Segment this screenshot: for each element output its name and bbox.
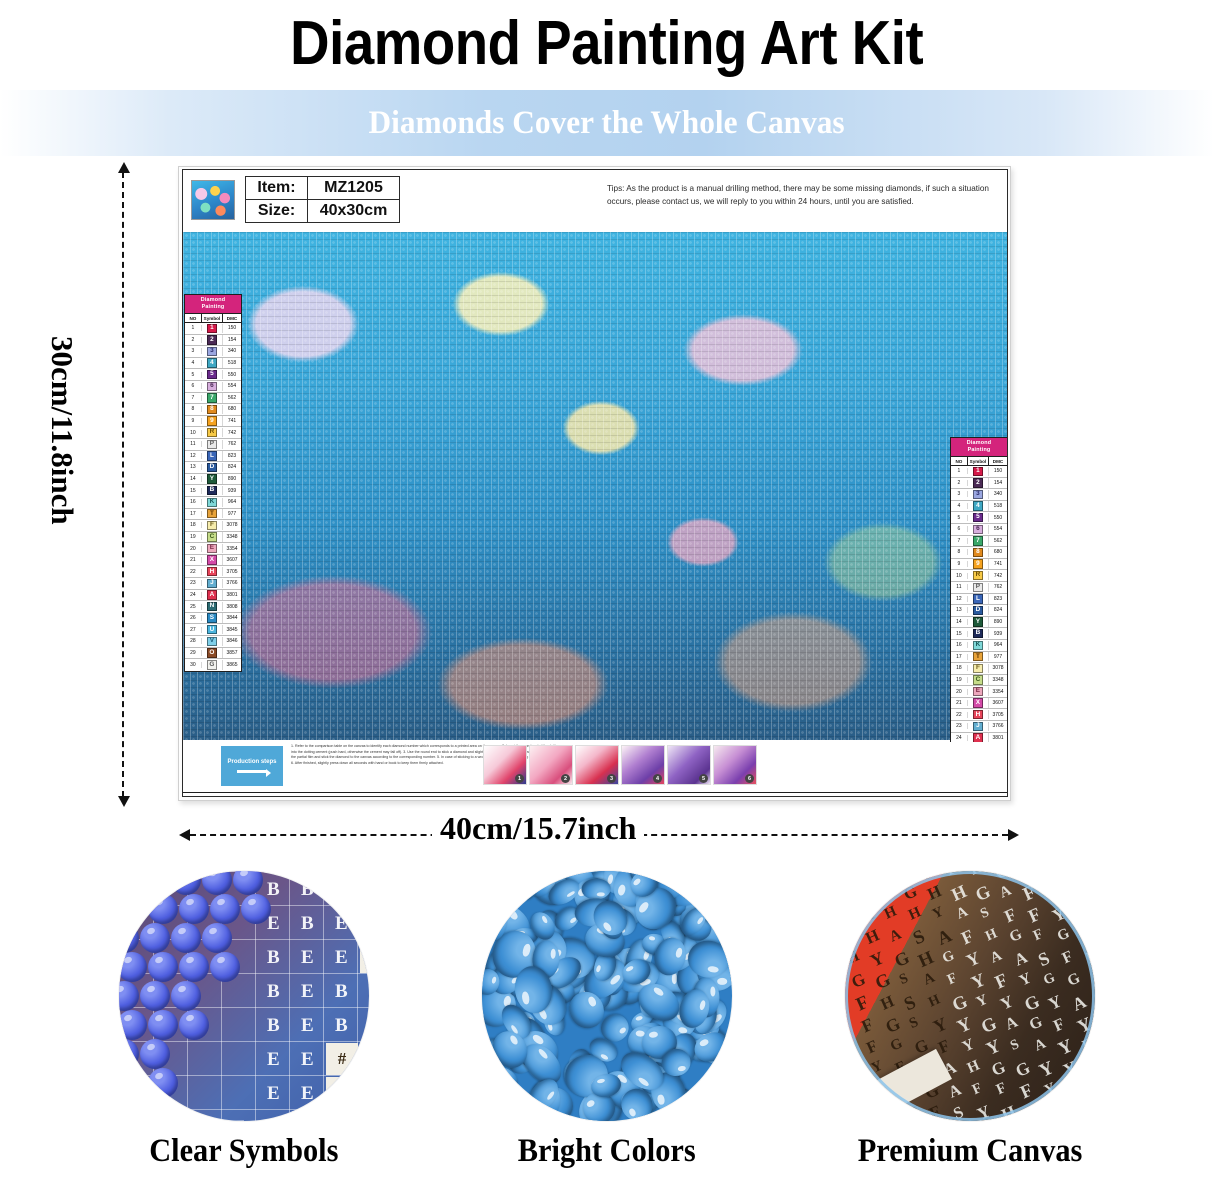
- legend-row-symbol: R: [968, 571, 989, 580]
- legend-row-symbol: B: [968, 629, 989, 638]
- feature-premium-canvas: AYFSHFHGGYSAGFHGHHGAFHFAAHHYASFFYSHHASAF…: [768, 871, 1172, 1193]
- legend-row-symbol: 3: [968, 490, 989, 499]
- legend-row: 17T977: [185, 509, 241, 521]
- legend-row-no: 1: [951, 468, 968, 474]
- legend-row-dmc: 742: [223, 430, 241, 436]
- legend-row-dmc: 150: [989, 468, 1007, 474]
- step-number: 1: [515, 774, 524, 783]
- step-thumbnail: 4: [621, 745, 665, 785]
- legend-row: 66554: [185, 381, 241, 393]
- symbol-swatch: D: [207, 463, 217, 472]
- legend-row-dmc: 550: [989, 515, 1007, 521]
- canvas-symbol: S: [1064, 871, 1079, 879]
- legend-row-symbol: 7: [202, 393, 223, 402]
- diamond-drill: [148, 894, 178, 924]
- mosaic-pattern: [183, 232, 1008, 742]
- legend-row: 14Y890: [185, 474, 241, 486]
- legend-row-no: 28: [185, 638, 202, 644]
- legend-row: 21X3607: [185, 555, 241, 567]
- symbol-swatch: A: [207, 590, 217, 599]
- legend-row: 77562: [951, 536, 1007, 548]
- step-number: 2: [561, 774, 570, 783]
- item-label: Item:: [246, 177, 308, 200]
- legend-title-line2: Painting: [951, 447, 1007, 454]
- symbol-swatch: J: [973, 722, 983, 731]
- legend-row: 18F3078: [185, 520, 241, 532]
- legend-row-symbol: D: [202, 463, 223, 472]
- symbol-cell: E: [335, 879, 348, 901]
- legend-row: 99741: [185, 416, 241, 428]
- legend-row-no: 9: [951, 561, 968, 567]
- symbol-swatch: J: [207, 579, 217, 588]
- legend-row: 10R742: [185, 427, 241, 439]
- legend-row-no: 23: [951, 723, 968, 729]
- legend-row-dmc: 3766: [223, 580, 241, 586]
- legend-col-no: NO: [185, 314, 202, 322]
- legend-row-symbol: 9: [968, 559, 989, 568]
- legend-row-no: 19: [951, 677, 968, 683]
- legend-row: 24A3801: [951, 733, 1007, 742]
- legend-row: 22154: [951, 478, 1007, 490]
- legend-row: 33340: [951, 489, 1007, 501]
- symbol-swatch: F: [973, 664, 983, 673]
- canvas-symbol: A: [1089, 1079, 1095, 1102]
- symbol-cell: E: [335, 1117, 348, 1121]
- legend-row: 17T977: [951, 652, 1007, 664]
- symbol-swatch: 5: [973, 513, 983, 522]
- legend-row-dmc: 824: [989, 607, 1007, 613]
- legend-table-left: Diamond Painting NO Symbol DMC 111502215…: [184, 294, 242, 672]
- legend-row: 66554: [951, 524, 1007, 536]
- legend-row-symbol: 5: [202, 370, 223, 379]
- legend-row-dmc: 3348: [989, 677, 1007, 683]
- legend-row-symbol: X: [968, 698, 989, 707]
- legend-row-dmc: 3348: [223, 534, 241, 540]
- symbol-swatch: 8: [973, 548, 983, 557]
- footer-divider: [183, 792, 1008, 793]
- symbol-swatch: 3: [973, 490, 983, 499]
- step-thumbnail: 1: [483, 745, 527, 785]
- feature-caption: Premium Canvas: [858, 1133, 1083, 1170]
- legend-row-symbol: 5: [968, 513, 989, 522]
- legend-row-no: 14: [185, 476, 202, 482]
- legend-row: 23J3766: [185, 578, 241, 590]
- legend-row-no: 12: [951, 596, 968, 602]
- legend-row: 44518: [185, 358, 241, 370]
- legend-row-dmc: 3801: [989, 735, 1007, 741]
- legend-row-dmc: 3607: [989, 700, 1007, 706]
- legend-col-symbol: Symbol: [202, 314, 223, 322]
- symbol-swatch: D: [973, 606, 983, 615]
- legend-row: 23J3766: [951, 721, 1007, 733]
- symbol-swatch: K: [207, 498, 217, 507]
- legend-row: 11150: [951, 466, 1007, 478]
- symbol-swatch: B: [207, 486, 217, 495]
- diamond-drill: [119, 1010, 147, 1040]
- symbol-swatch: Y: [973, 617, 983, 626]
- legend-row-symbol: 6: [202, 382, 223, 391]
- feature-bright-colors: Bright Colors: [405, 871, 809, 1193]
- symbol-cell: E: [335, 913, 348, 935]
- legend-row-dmc: 3857: [223, 650, 241, 656]
- diamond-drill: [148, 1068, 178, 1098]
- step-thumbnail-strip: 123456: [483, 745, 757, 785]
- symbol-swatch: 6: [973, 525, 983, 534]
- symbol-swatch: S: [207, 613, 217, 622]
- legend-row-no: 19: [185, 534, 202, 540]
- diamond-drill: [210, 894, 240, 924]
- legend-row-symbol: X: [202, 555, 223, 564]
- symbol-swatch: 4: [973, 501, 983, 510]
- legend-row-dmc: 977: [989, 654, 1007, 660]
- symbol-swatch: H: [207, 567, 217, 576]
- legend-row: 30G3865: [185, 659, 241, 671]
- legend-row: 22H3705: [185, 566, 241, 578]
- canvas-symbol: F: [853, 882, 869, 902]
- legend-row: 25N3808: [185, 601, 241, 613]
- legend-row: 88680: [185, 404, 241, 416]
- feature-row: BBEEEBE#BEE#BEBEBEBBEE##EE#EEBBEE#EE Cle…: [0, 871, 1214, 1193]
- legend-row-dmc: 741: [223, 418, 241, 424]
- height-dimension-arrow: [122, 172, 124, 797]
- legend-row-dmc: 3808: [223, 604, 241, 610]
- legend-row-dmc: 824: [223, 464, 241, 470]
- legend-col-dmc: DMC: [223, 314, 241, 322]
- legend-row-symbol: 4: [202, 358, 223, 367]
- diamond-drill: [140, 1039, 170, 1069]
- diamond-drill: [119, 1039, 139, 1069]
- symbol-swatch: R: [973, 571, 983, 580]
- symbol-swatch: P: [207, 440, 217, 449]
- symbol-swatch: 7: [973, 536, 983, 545]
- legend-row-no: 30: [185, 662, 202, 668]
- legend-row-dmc: 3078: [223, 522, 241, 528]
- canvas-symbol: A: [845, 904, 850, 923]
- applied-drills: [119, 871, 274, 1121]
- legend-row-dmc: 3705: [223, 569, 241, 575]
- legend-row-no: 23: [185, 580, 202, 586]
- legend-header: Diamond Painting: [951, 438, 1007, 456]
- symbol-swatch: 1: [207, 324, 217, 333]
- feature-clear-symbols: BBEEEBE#BEE#BEBEBEBBEE##EE#EEBBEE#EE Cle…: [42, 871, 446, 1193]
- symbol-swatch: Y: [207, 474, 217, 483]
- legend-row-symbol: U: [202, 625, 223, 634]
- legend-row-dmc: 562: [223, 395, 241, 401]
- diamond-drill: [171, 923, 201, 953]
- legend-row-no: 29: [185, 650, 202, 656]
- legend-row-no: 7: [185, 395, 202, 401]
- legend-row-dmc: 3766: [989, 723, 1007, 729]
- legend-row-no: 15: [951, 631, 968, 637]
- canvas-symbol: S: [1073, 904, 1092, 928]
- diamond-drill: [202, 871, 232, 895]
- legend-row: 11150: [185, 323, 241, 335]
- artwork-thumbnail: [191, 180, 235, 220]
- legend-row-no: 16: [951, 642, 968, 648]
- legend-row-symbol: J: [968, 722, 989, 731]
- legend-row-dmc: 3607: [223, 557, 241, 563]
- legend-row-symbol: 8: [968, 548, 989, 557]
- legend-row-no: 4: [185, 360, 202, 366]
- canvas-symbol: A: [1087, 871, 1095, 884]
- legend-row-dmc: 150: [223, 325, 241, 331]
- legend-row-dmc: 3801: [223, 592, 241, 598]
- legend-row-dmc: 890: [223, 476, 241, 482]
- legend-row-symbol: 4: [968, 501, 989, 510]
- item-value: MZ1205: [308, 177, 400, 200]
- legend-row-symbol: 3: [202, 347, 223, 356]
- canvas-symbol: A: [1070, 1101, 1091, 1121]
- legend-row-dmc: 890: [989, 619, 1007, 625]
- diamond-drill: [119, 981, 139, 1011]
- symbol-swatch: V: [207, 637, 217, 646]
- legend-row-no: 24: [185, 592, 202, 598]
- symbol-cell: B: [301, 913, 314, 935]
- legend-row: 10R742: [951, 570, 1007, 582]
- legend-row-dmc: 3354: [989, 689, 1007, 695]
- legend-row-no: 13: [185, 464, 202, 470]
- legend-row-symbol: F: [968, 664, 989, 673]
- symbol-swatch: O: [207, 648, 217, 657]
- legend-row-symbol: Y: [202, 474, 223, 483]
- legend-row-symbol: 2: [202, 335, 223, 344]
- canvas-sheet: Item: MZ1205 Size: 40x30cm Tips: As the …: [182, 169, 1008, 797]
- legend-row-no: 21: [185, 557, 202, 563]
- legend-row: 14Y890: [951, 617, 1007, 629]
- legend-row-symbol: L: [202, 451, 223, 460]
- step-number: 4: [653, 774, 662, 783]
- symbol-cell: B: [301, 879, 314, 901]
- legend-row-no: 27: [185, 627, 202, 633]
- symbol-swatch: F: [207, 521, 217, 530]
- symbol-cell: #: [326, 1043, 358, 1075]
- canvas-symbol: F: [1068, 882, 1086, 905]
- diamond-drill: [119, 1068, 147, 1098]
- diamond-drill: [210, 952, 240, 982]
- symbol-cell: B: [335, 1015, 348, 1037]
- symbol-swatch: N: [207, 602, 217, 611]
- legend-row: 19C3348: [185, 532, 241, 544]
- legend-row-dmc: 518: [223, 360, 241, 366]
- legend-row-no: 9: [185, 418, 202, 424]
- step-number: 5: [699, 774, 708, 783]
- legend-row-dmc: 762: [989, 584, 1007, 590]
- legend-row: 44518: [951, 501, 1007, 513]
- legend-row-no: 2: [185, 337, 202, 343]
- symbol-swatch: X: [207, 555, 217, 564]
- production-steps-label: Production steps: [227, 759, 276, 767]
- diamond-drill: [140, 923, 170, 953]
- diamond-drill: [140, 981, 170, 1011]
- symbol-cell: E: [301, 1049, 314, 1071]
- legend-row-no: 11: [951, 584, 968, 590]
- legend-row-no: 8: [951, 549, 968, 555]
- legend-row: 29O3857: [185, 648, 241, 660]
- height-dimension-label: 30cm/11.8inch: [44, 336, 80, 525]
- diamond-drill: [148, 1010, 178, 1040]
- legend-row-symbol: A: [202, 590, 223, 599]
- symbol-swatch: E: [207, 544, 217, 553]
- feature-caption: Bright Colors: [518, 1133, 696, 1170]
- symbol-swatch: C: [207, 532, 217, 541]
- symbol-cell: #: [360, 941, 369, 973]
- symbol-swatch: H: [973, 710, 983, 719]
- legend-row: 55550: [951, 512, 1007, 524]
- legend-row: 27U3845: [185, 624, 241, 636]
- legend-row-symbol: P: [968, 583, 989, 592]
- diamond-drill: [119, 952, 147, 982]
- diamond-drill: [179, 952, 209, 982]
- width-dimension-label: 40cm/15.7inch: [432, 810, 644, 847]
- legend-row-symbol: B: [202, 486, 223, 495]
- symbol-cell: E: [301, 1015, 314, 1037]
- sheet-footer: Production steps 1. Refer to the compari…: [183, 740, 1008, 796]
- legend-row-no: 18: [185, 522, 202, 528]
- legend-row: 20E3354: [185, 543, 241, 555]
- diamond-drill: [202, 923, 232, 953]
- symbol-cell: #: [292, 1111, 324, 1121]
- legend-row-symbol: T: [968, 652, 989, 661]
- legend-row-no: 20: [951, 689, 968, 695]
- legend-row: 77562: [185, 393, 241, 405]
- legend-row-no: 5: [951, 515, 968, 521]
- legend-row-symbol: V: [202, 637, 223, 646]
- legend-row-no: 14: [951, 619, 968, 625]
- legend-row: 24A3801: [185, 590, 241, 602]
- step-thumbnail: 6: [713, 745, 757, 785]
- legend-row-no: 3: [185, 348, 202, 354]
- legend-row-symbol: L: [968, 594, 989, 603]
- legend-row: 22154: [185, 335, 241, 347]
- legend-row-no: 16: [185, 499, 202, 505]
- legend-rows: 1115022154333404451855550665547756288680…: [185, 323, 241, 671]
- legend-row-symbol: 1: [968, 467, 989, 476]
- legend-row: 20E3354: [951, 686, 1007, 698]
- symbol-swatch: T: [207, 509, 217, 518]
- legend-row-no: 21: [951, 700, 968, 706]
- legend-row-dmc: 340: [989, 491, 1007, 497]
- legend-row-dmc: 939: [989, 631, 1007, 637]
- legend-row-symbol: 9: [202, 416, 223, 425]
- legend-row: 19C3348: [951, 675, 1007, 687]
- symbol-swatch: R: [207, 428, 217, 437]
- title-band: Diamond Painting Art Kit: [0, 0, 1214, 88]
- symbol-cell: B: [335, 981, 348, 1003]
- step-thumbnail: 5: [667, 745, 711, 785]
- diamond-drill: [140, 871, 170, 895]
- symbol-swatch: 2: [207, 335, 217, 344]
- legend-row-no: 8: [185, 406, 202, 412]
- legend-row-symbol: Y: [968, 617, 989, 626]
- diamond-drill: [148, 952, 178, 982]
- symbol-swatch: B: [973, 629, 983, 638]
- legend-row-symbol: J: [202, 579, 223, 588]
- step-number: 3: [607, 774, 616, 783]
- legend-row: 13D824: [951, 605, 1007, 617]
- step-thumbnail: 3: [575, 745, 619, 785]
- legend-row-dmc: 3844: [223, 615, 241, 621]
- legend-row-no: 20: [185, 546, 202, 552]
- legend-row-no: 26: [185, 615, 202, 621]
- legend-row-no: 4: [951, 503, 968, 509]
- legend-row-no: 2: [951, 480, 968, 486]
- tips-text: Tips: As the product is a manual drillin…: [607, 182, 989, 209]
- legend-row-dmc: 3846: [223, 638, 241, 644]
- symbol-swatch: 4: [207, 358, 217, 367]
- legend-row: 12L823: [951, 594, 1007, 606]
- symbol-swatch: L: [973, 594, 983, 603]
- legend-row-dmc: 550: [223, 372, 241, 378]
- legend-row-dmc: 562: [989, 538, 1007, 544]
- symbol-cell: E: [301, 947, 314, 969]
- diamond-drill: [171, 981, 201, 1011]
- canvas-symbol: G: [1016, 871, 1035, 881]
- legend-row-dmc: 3845: [223, 627, 241, 633]
- sheet-header: Item: MZ1205 Size: 40x30cm Tips: As the …: [183, 170, 1007, 232]
- legend-column-header: NO Symbol DMC: [951, 456, 1007, 466]
- legend-row: 99741: [951, 559, 1007, 571]
- legend-row-dmc: 340: [223, 348, 241, 354]
- spec-region: Item: MZ1205 Size: 40x30cm Tips: As the …: [0, 156, 1214, 871]
- legend-row-symbol: 6: [968, 525, 989, 534]
- symbol-swatch: U: [207, 625, 217, 634]
- diamond-drill: [171, 871, 201, 895]
- legend-row-dmc: 742: [989, 573, 1007, 579]
- diamond-drill: [179, 894, 209, 924]
- spec-table: Item: MZ1205 Size: 40x30cm: [245, 176, 400, 223]
- legend-row-symbol: 8: [202, 405, 223, 414]
- legend-row-dmc: 762: [223, 441, 241, 447]
- symbol-swatch: 3: [207, 347, 217, 356]
- legend-row-symbol: P: [202, 440, 223, 449]
- symbol-swatch: G: [207, 660, 217, 669]
- canvas-symbol: Y: [848, 871, 865, 879]
- legend-row-symbol: 2: [968, 478, 989, 487]
- symbol-swatch: 1: [973, 467, 983, 476]
- step-number: 6: [745, 774, 754, 783]
- feature-image-premium-canvas: AYFSHFHGGYSAGFHGHHGAFHFAAHHYASFFYSHHASAF…: [845, 871, 1095, 1121]
- symbol-swatch: 7: [207, 393, 217, 402]
- canvas-symbol: G: [1046, 1101, 1066, 1121]
- symbol-swatch: C: [973, 675, 983, 684]
- legend-row-no: 7: [951, 538, 968, 544]
- legend-row-symbol: H: [968, 710, 989, 719]
- legend-row-dmc: 3354: [223, 546, 241, 552]
- feature-caption: Clear Symbols: [149, 1133, 338, 1170]
- legend-row-dmc: 977: [223, 511, 241, 517]
- legend-row-symbol: R: [202, 428, 223, 437]
- legend-table-right: Diamond Painting NO Symbol DMC 111502215…: [950, 437, 1008, 742]
- subtitle-text: Diamonds Cover the Whole Canvas: [369, 105, 845, 142]
- legend-row-no: 13: [951, 607, 968, 613]
- legend-row: 16K964: [185, 497, 241, 509]
- legend-column-header: NO Symbol DMC: [185, 313, 241, 323]
- legend-rows: 1115022154333404451855550665547756288680…: [951, 466, 1007, 742]
- legend-row-dmc: 3865: [223, 662, 241, 668]
- symbol-swatch: 6: [207, 382, 217, 391]
- legend-row-no: 12: [185, 453, 202, 459]
- legend-row: 21X3607: [951, 698, 1007, 710]
- arrow-icon: [237, 770, 267, 773]
- legend-row: 88680: [951, 547, 1007, 559]
- legend-row: 28V3846: [185, 636, 241, 648]
- legend-row-no: 15: [185, 488, 202, 494]
- legend-row-symbol: F: [202, 521, 223, 530]
- legend-row-dmc: 154: [223, 337, 241, 343]
- legend-row-no: 22: [951, 712, 968, 718]
- legend-row-dmc: 518: [989, 503, 1007, 509]
- diamond-drill: [119, 871, 139, 895]
